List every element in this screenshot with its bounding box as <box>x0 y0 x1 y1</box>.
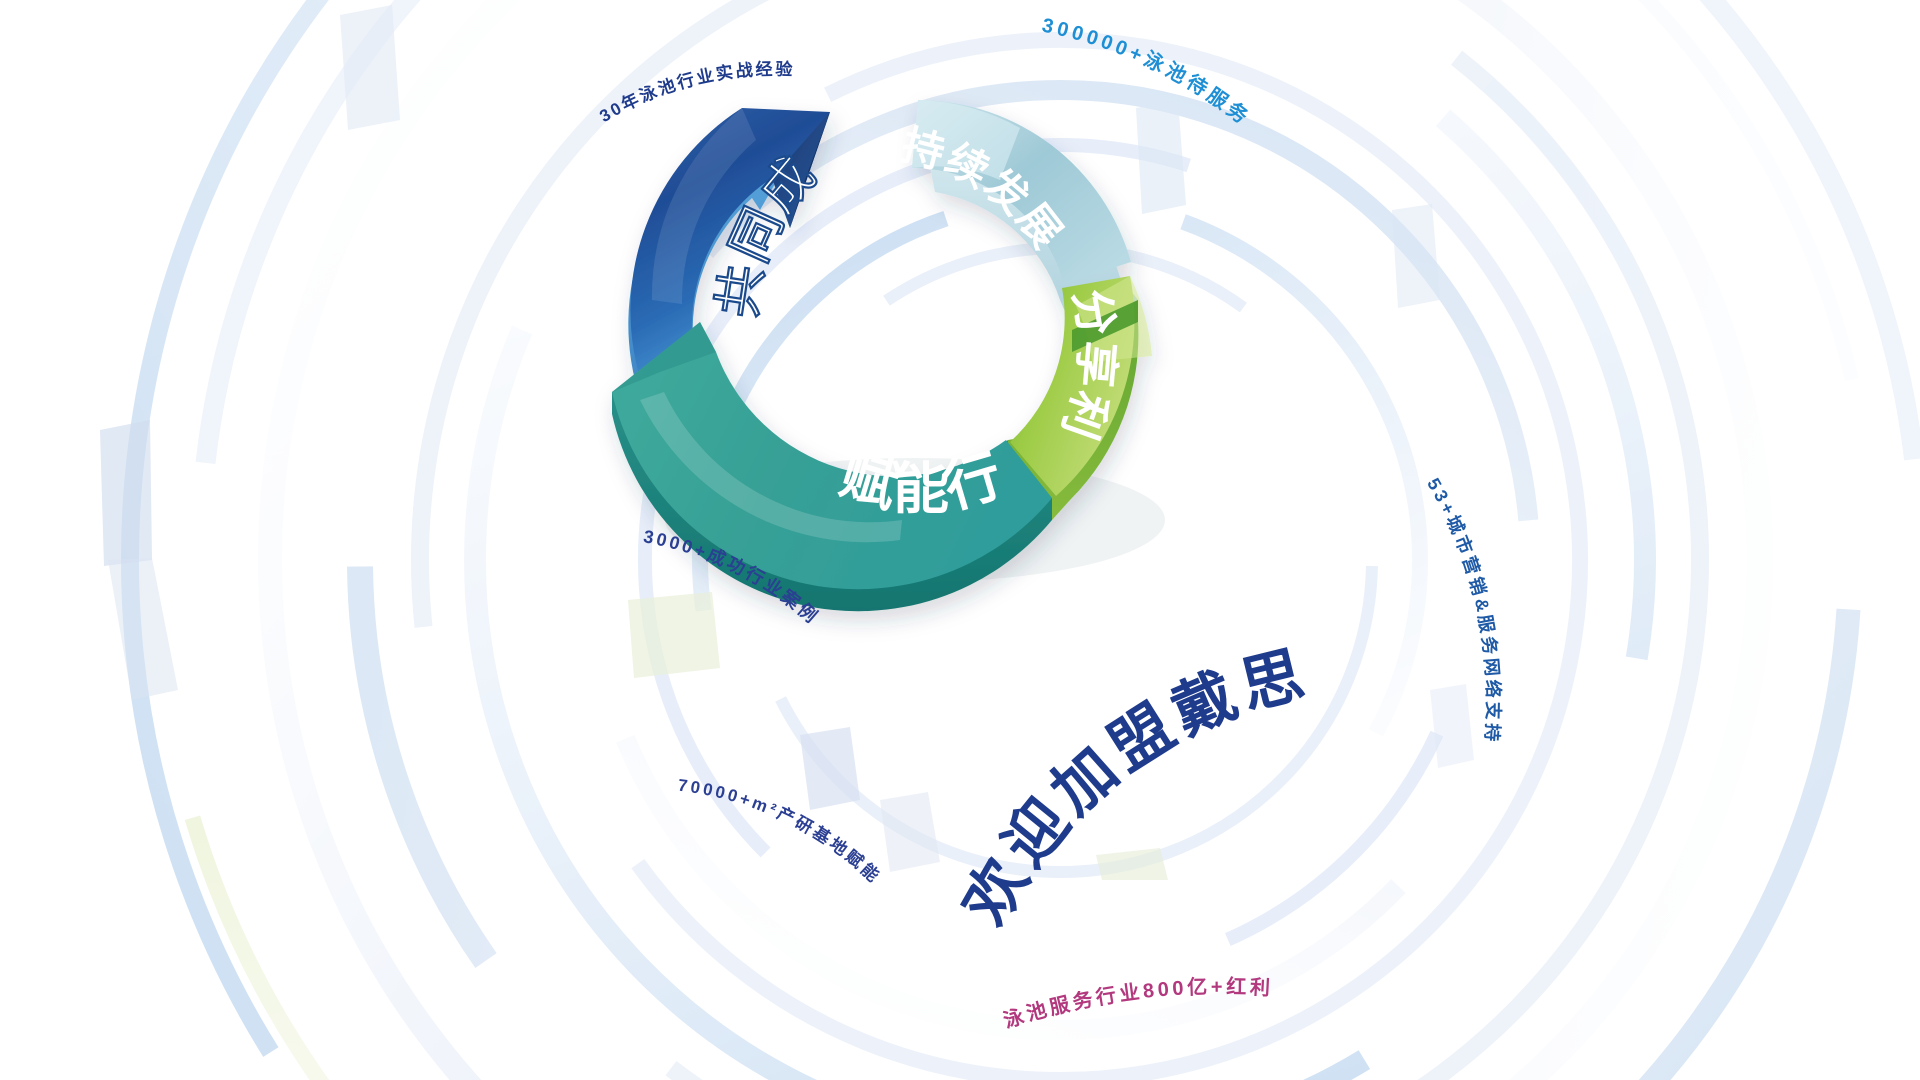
page-title: 欢迎加盟戴思乐 <box>0 0 1316 937</box>
headline-layer: 欢迎加盟戴思乐 <box>0 0 1920 1080</box>
poster-canvas: 共同成长 持续发展 分享利益 赋能行业 30年泳池行业实战经验 <box>0 0 1920 1080</box>
